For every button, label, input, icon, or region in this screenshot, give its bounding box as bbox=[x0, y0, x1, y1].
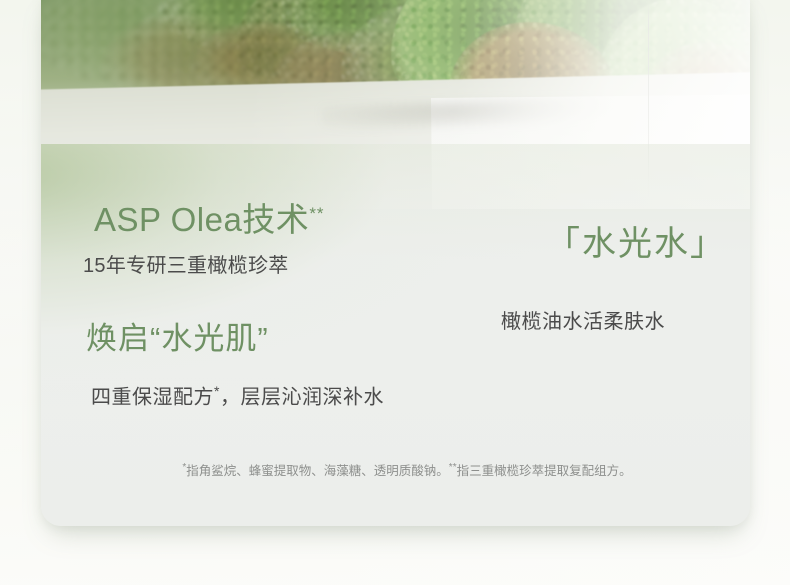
asp-olea-technology-title-text: ASP Olea技术 bbox=[94, 201, 309, 238]
asp-olea-technology-title: ASP Olea技术** bbox=[94, 194, 325, 240]
glow-skin-subtitle-text-before: 四重保湿配方 bbox=[91, 387, 214, 409]
product-name-title: 「水光水」 bbox=[546, 222, 726, 266]
footnote-text-single: 指角鲨烷、蜂蜜提取物、海藻糖、透明质酸钠。 bbox=[186, 464, 449, 478]
card-content: ASP Olea技术** 15年专研三重橄榄珍萃 焕启“水光肌” 四重保湿配方*… bbox=[41, 0, 750, 526]
asp-olea-technology-subtitle: 15年专研三重橄榄珍萃 bbox=[83, 252, 289, 280]
footnote-disclaimer: *指角鲨烷、蜂蜜提取物、海藻糖、透明质酸钠。**指三重橄榄珍萃提取复配组方。 bbox=[127, 459, 687, 480]
product-feature-card: ASP Olea技术** 15年专研三重橄榄珍萃 焕启“水光肌” 四重保湿配方*… bbox=[41, 0, 750, 526]
product-name-subtitle: 橄榄油水活柔肤水 bbox=[501, 308, 665, 336]
footnote-mark-double: ** bbox=[449, 462, 457, 473]
footnote-text-double: 指三重橄榄珍萃提取复配组方。 bbox=[457, 464, 632, 478]
glow-skin-subtitle: 四重保湿配方*，层层沁润深补水 bbox=[91, 377, 384, 412]
page-root: ASP Olea技术** 15年专研三重橄榄珍萃 焕启“水光肌” 四重保湿配方*… bbox=[0, 0, 790, 585]
glow-skin-subtitle-text-after: ，层层沁润深补水 bbox=[220, 387, 384, 409]
asp-olea-technology-title-footnote-mark: ** bbox=[309, 204, 324, 223]
glow-skin-title: 焕启“水光肌” bbox=[86, 319, 269, 359]
